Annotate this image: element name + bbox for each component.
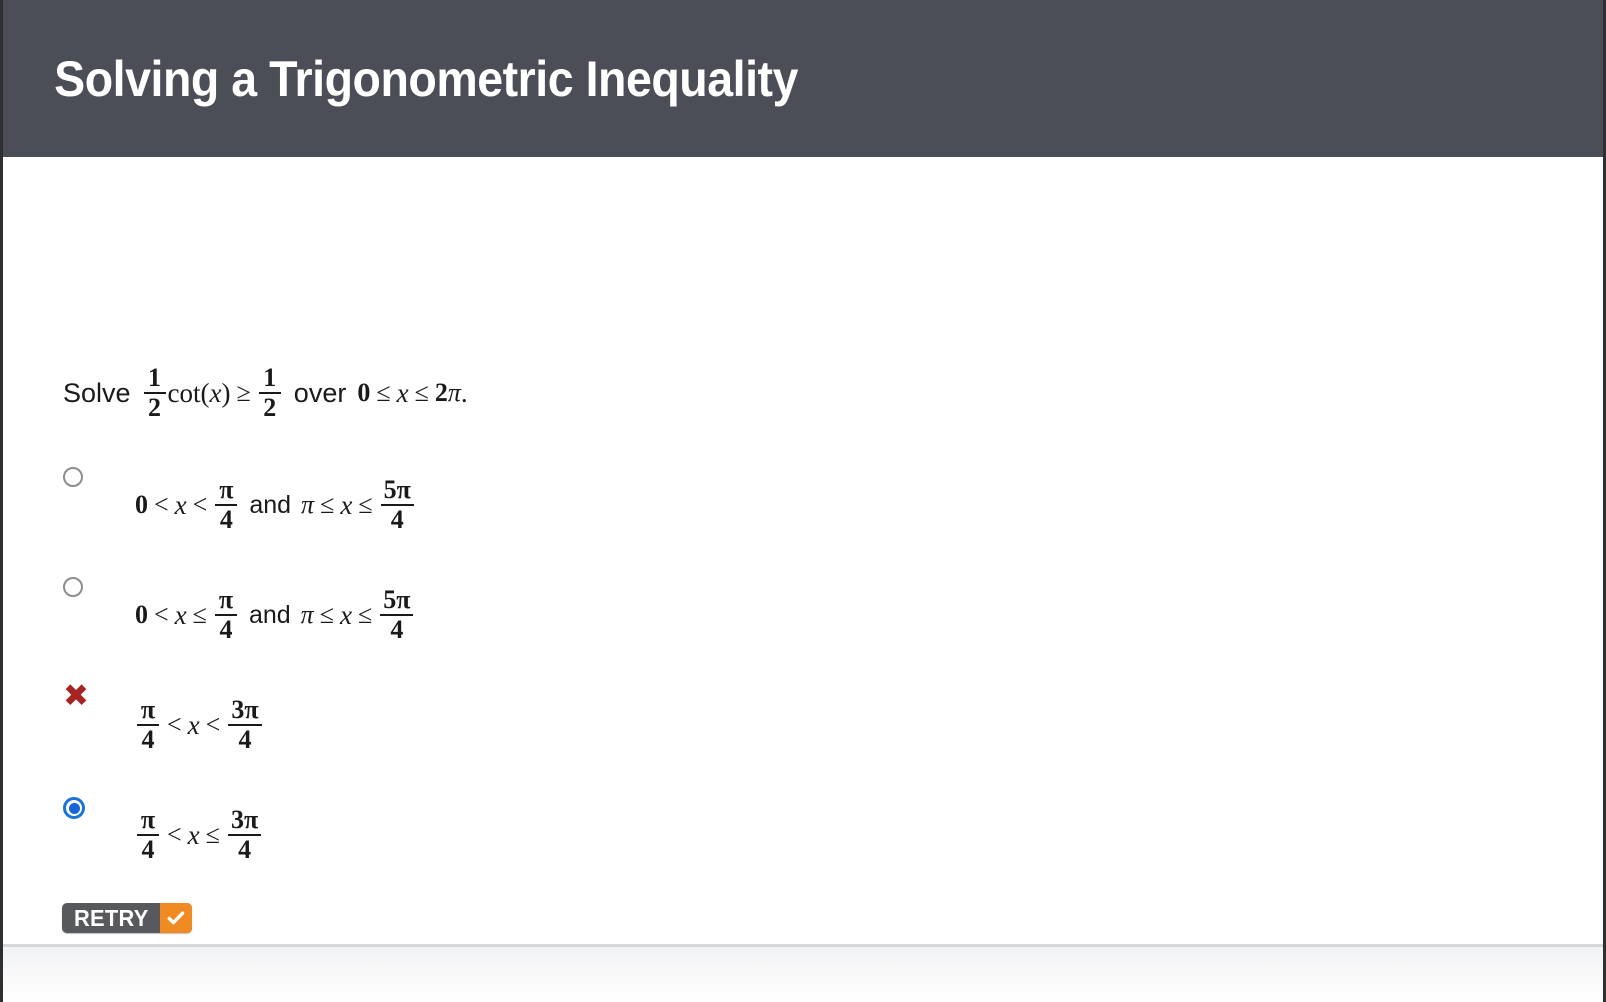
fraction-numerator: 5π [380, 587, 413, 614]
option-d-marker[interactable] [63, 787, 109, 819]
upper-bound-fraction: π 4 [215, 477, 237, 533]
coefficient-denominator: 2 [145, 394, 164, 421]
domain-upper-coefficient: 2 [435, 378, 448, 408]
relation-symbol: ≤ [358, 490, 372, 520]
upper-bound-fraction: 3π 4 [228, 697, 261, 753]
lower-bound-fraction: π 4 [137, 807, 159, 863]
variable: x [175, 490, 187, 521]
answer-option-c[interactable]: ✖ π 4 < x < 3π 4 [63, 677, 763, 787]
relation-symbol: < [206, 710, 221, 740]
fraction-denominator: 4 [217, 506, 236, 533]
fraction-denominator: 4 [235, 836, 254, 863]
answer-option-b[interactable]: 0 < x ≤ π 4 and π ≤ x ≤ 5π [63, 567, 763, 677]
variable: x [340, 600, 352, 631]
relation-symbol: ≤ [358, 600, 372, 630]
second-lower-bound: π [301, 600, 314, 630]
question-stem: Solve 1 2 cot( x ) ≥ 1 2 over 0 ≤ x ≤ 2 … [63, 365, 468, 421]
cot-close-paren: ) [222, 378, 231, 409]
option-a-marker[interactable] [63, 457, 109, 487]
title-bar: Solving a Trigonometric Inequality [3, 0, 1603, 157]
right-side-fraction: 1 2 [259, 365, 281, 421]
incorrect-x-icon: ✖ [63, 687, 89, 705]
option-b-marker[interactable] [63, 567, 109, 597]
fraction-numerator: π [138, 807, 158, 834]
relation-symbol: < [167, 820, 182, 850]
fraction-numerator: π [216, 477, 236, 504]
relation-symbol: < [193, 490, 208, 520]
radio-unselected-icon[interactable] [63, 467, 83, 487]
lower-bound: 0 [135, 490, 148, 520]
domain-upper-pi: π [448, 378, 461, 408]
upper-bound-fraction: π 4 [215, 587, 237, 643]
variable: x [340, 490, 352, 521]
right-side-numerator: 1 [260, 365, 279, 392]
domain-relation-right: ≤ [415, 378, 429, 408]
domain-relation-left: ≤ [376, 378, 390, 408]
fraction-numerator: 5π [381, 477, 414, 504]
option-c-marker: ✖ [63, 677, 109, 705]
quiz-window: Solving a Trigonometric Inequality Solve… [0, 0, 1606, 1002]
option-c-expression: π 4 < x < 3π 4 [109, 677, 264, 753]
main-relation-symbol: ≥ [237, 378, 251, 408]
second-upper-bound-fraction: 5π 4 [380, 587, 413, 643]
question-content-area: Solve 1 2 cot( x ) ≥ 1 2 over 0 ≤ x ≤ 2 … [3, 157, 1603, 947]
second-lower-bound: π [301, 490, 314, 520]
fraction-numerator: 3π [228, 697, 261, 724]
lower-bound: 0 [135, 600, 148, 630]
conjunction-word: and [249, 601, 291, 630]
fraction-numerator: 3π [228, 807, 261, 834]
coefficient-fraction: 1 2 [144, 365, 166, 421]
footer-area [3, 947, 1603, 1002]
relation-symbol: < [167, 710, 182, 740]
variable: x [188, 820, 200, 851]
relation-symbol: ≤ [193, 600, 207, 630]
lower-bound-fraction: π 4 [137, 697, 159, 753]
cot-argument: x [210, 378, 222, 409]
fraction-numerator: π [216, 587, 236, 614]
variable: x [188, 710, 200, 741]
fraction-denominator: 4 [387, 616, 406, 643]
option-d-expression: π 4 < x ≤ 3π 4 [109, 787, 263, 863]
second-upper-bound-fraction: 5π 4 [381, 477, 414, 533]
coefficient-numerator: 1 [145, 365, 164, 392]
relation-symbol: < [154, 490, 169, 520]
retry-button[interactable]: RETRY [62, 903, 192, 933]
answer-option-d[interactable]: π 4 < x ≤ 3π 4 [63, 787, 763, 897]
fraction-denominator: 4 [139, 836, 158, 863]
domain-lead-word: over [294, 378, 347, 409]
fraction-numerator: π [138, 697, 158, 724]
fraction-denominator: 4 [235, 726, 254, 753]
option-b-expression: 0 < x ≤ π 4 and π ≤ x ≤ 5π [109, 567, 415, 643]
upper-bound-fraction: 3π 4 [228, 807, 261, 863]
fraction-denominator: 4 [388, 506, 407, 533]
relation-symbol: < [154, 600, 169, 630]
retry-button-label: RETRY [64, 903, 157, 933]
radio-unselected-icon[interactable] [63, 577, 83, 597]
check-icon [160, 903, 192, 933]
relation-symbol: ≤ [320, 490, 334, 520]
radio-selected-icon[interactable] [63, 797, 85, 819]
answer-options-list: 0 < x < π 4 and π ≤ x ≤ 5π [63, 457, 763, 897]
fraction-denominator: 4 [139, 726, 158, 753]
answer-option-a[interactable]: 0 < x < π 4 and π ≤ x ≤ 5π [63, 457, 763, 567]
variable: x [175, 600, 187, 631]
question-period: . [461, 378, 468, 409]
cot-function: cot( [168, 378, 210, 409]
fraction-denominator: 4 [216, 616, 235, 643]
domain-lower-bound: 0 [357, 378, 370, 408]
conjunction-word: and [249, 491, 291, 520]
right-side-denominator: 2 [260, 394, 279, 421]
domain-variable: x [397, 378, 409, 409]
question-lead-word: Solve [63, 378, 131, 409]
page-title: Solving a Trigonometric Inequality [3, 50, 798, 108]
relation-symbol: ≤ [206, 820, 220, 850]
option-a-expression: 0 < x < π 4 and π ≤ x ≤ 5π [109, 457, 416, 533]
relation-symbol: ≤ [320, 600, 334, 630]
